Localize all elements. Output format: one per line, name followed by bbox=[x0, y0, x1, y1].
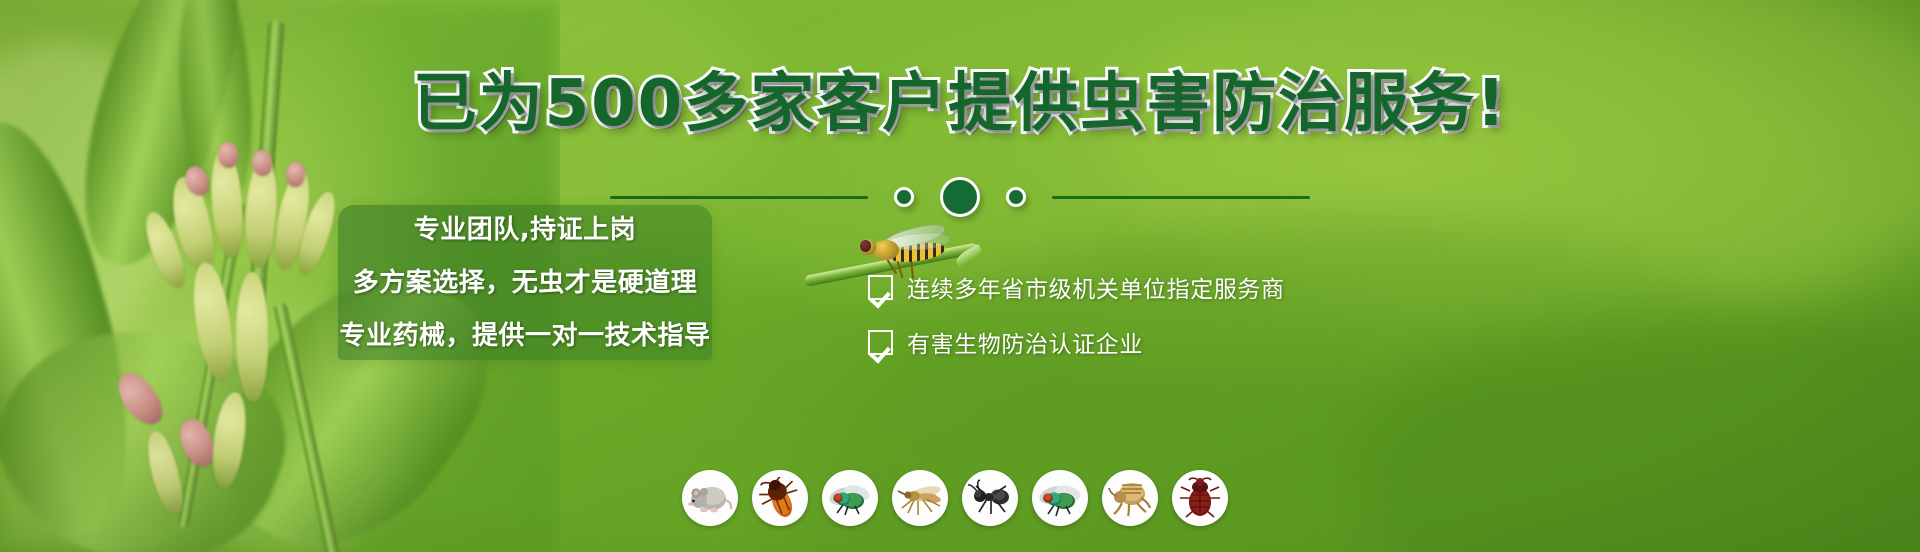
decorative-divider bbox=[0, 175, 1920, 219]
pest-icon-cockroach[interactable] bbox=[752, 470, 808, 526]
divider-dot-small-left bbox=[894, 187, 914, 207]
fly-icon bbox=[1037, 479, 1083, 517]
checklist-label: 连续多年省市级机关单位指定服务商 bbox=[907, 270, 1285, 304]
page-title: 已为500多家客户提供虫害防治服务! bbox=[0, 70, 1920, 139]
bedbug-icon bbox=[1179, 477, 1221, 519]
pest-icon-mouse[interactable] bbox=[682, 470, 738, 526]
flea-icon bbox=[1108, 478, 1152, 518]
headline-text: 已为500多家客户提供虫害防治服务! bbox=[413, 67, 1508, 141]
pest-icon-green-fly[interactable] bbox=[822, 470, 878, 526]
green-fly-icon bbox=[827, 479, 873, 517]
slogan-line-2: 多方案选择，无虫才是硬道理 bbox=[353, 262, 698, 299]
checkbox-checked-icon bbox=[868, 330, 893, 355]
divider-line-left bbox=[610, 196, 868, 199]
pest-type-icon-row bbox=[682, 470, 1228, 526]
list-item: 有害生物防治认证企业 bbox=[868, 325, 1285, 359]
pest-icon-bedbug[interactable] bbox=[1172, 470, 1228, 526]
checkbox-checked-icon bbox=[868, 275, 893, 300]
slogan-line-3: 专业药械，提供一对一技术指导 bbox=[340, 315, 711, 352]
pest-icon-ant[interactable] bbox=[962, 470, 1018, 526]
divider-line-right bbox=[1052, 196, 1310, 199]
mouse-icon bbox=[687, 478, 733, 518]
list-item: 连续多年省市级机关单位指定服务商 bbox=[868, 270, 1285, 304]
mosquito-icon bbox=[896, 478, 944, 518]
checklist: 连续多年省市级机关单位指定服务商 有害生物防治认证企业 bbox=[868, 270, 1285, 359]
divider-dot-large bbox=[940, 177, 980, 217]
pest-control-hero-banner: 已为500多家客户提供虫害防治服务! 专业团队,持证上岗 多方案选择，无虫才是硬… bbox=[0, 0, 1920, 552]
pest-icon-flea[interactable] bbox=[1102, 470, 1158, 526]
ant-icon bbox=[967, 479, 1013, 517]
divider-dot-small-right bbox=[1006, 187, 1026, 207]
slogan-panel: 专业团队,持证上岗 多方案选择，无虫才是硬道理 专业药械，提供一对一技术指导 bbox=[338, 205, 712, 360]
pest-icon-fly[interactable] bbox=[1032, 470, 1088, 526]
pest-icon-mosquito[interactable] bbox=[892, 470, 948, 526]
slogan-line-1: 专业团队,持证上岗 bbox=[414, 209, 636, 246]
checklist-label: 有害生物防治认证企业 bbox=[907, 325, 1143, 359]
cockroach-icon bbox=[758, 477, 802, 519]
